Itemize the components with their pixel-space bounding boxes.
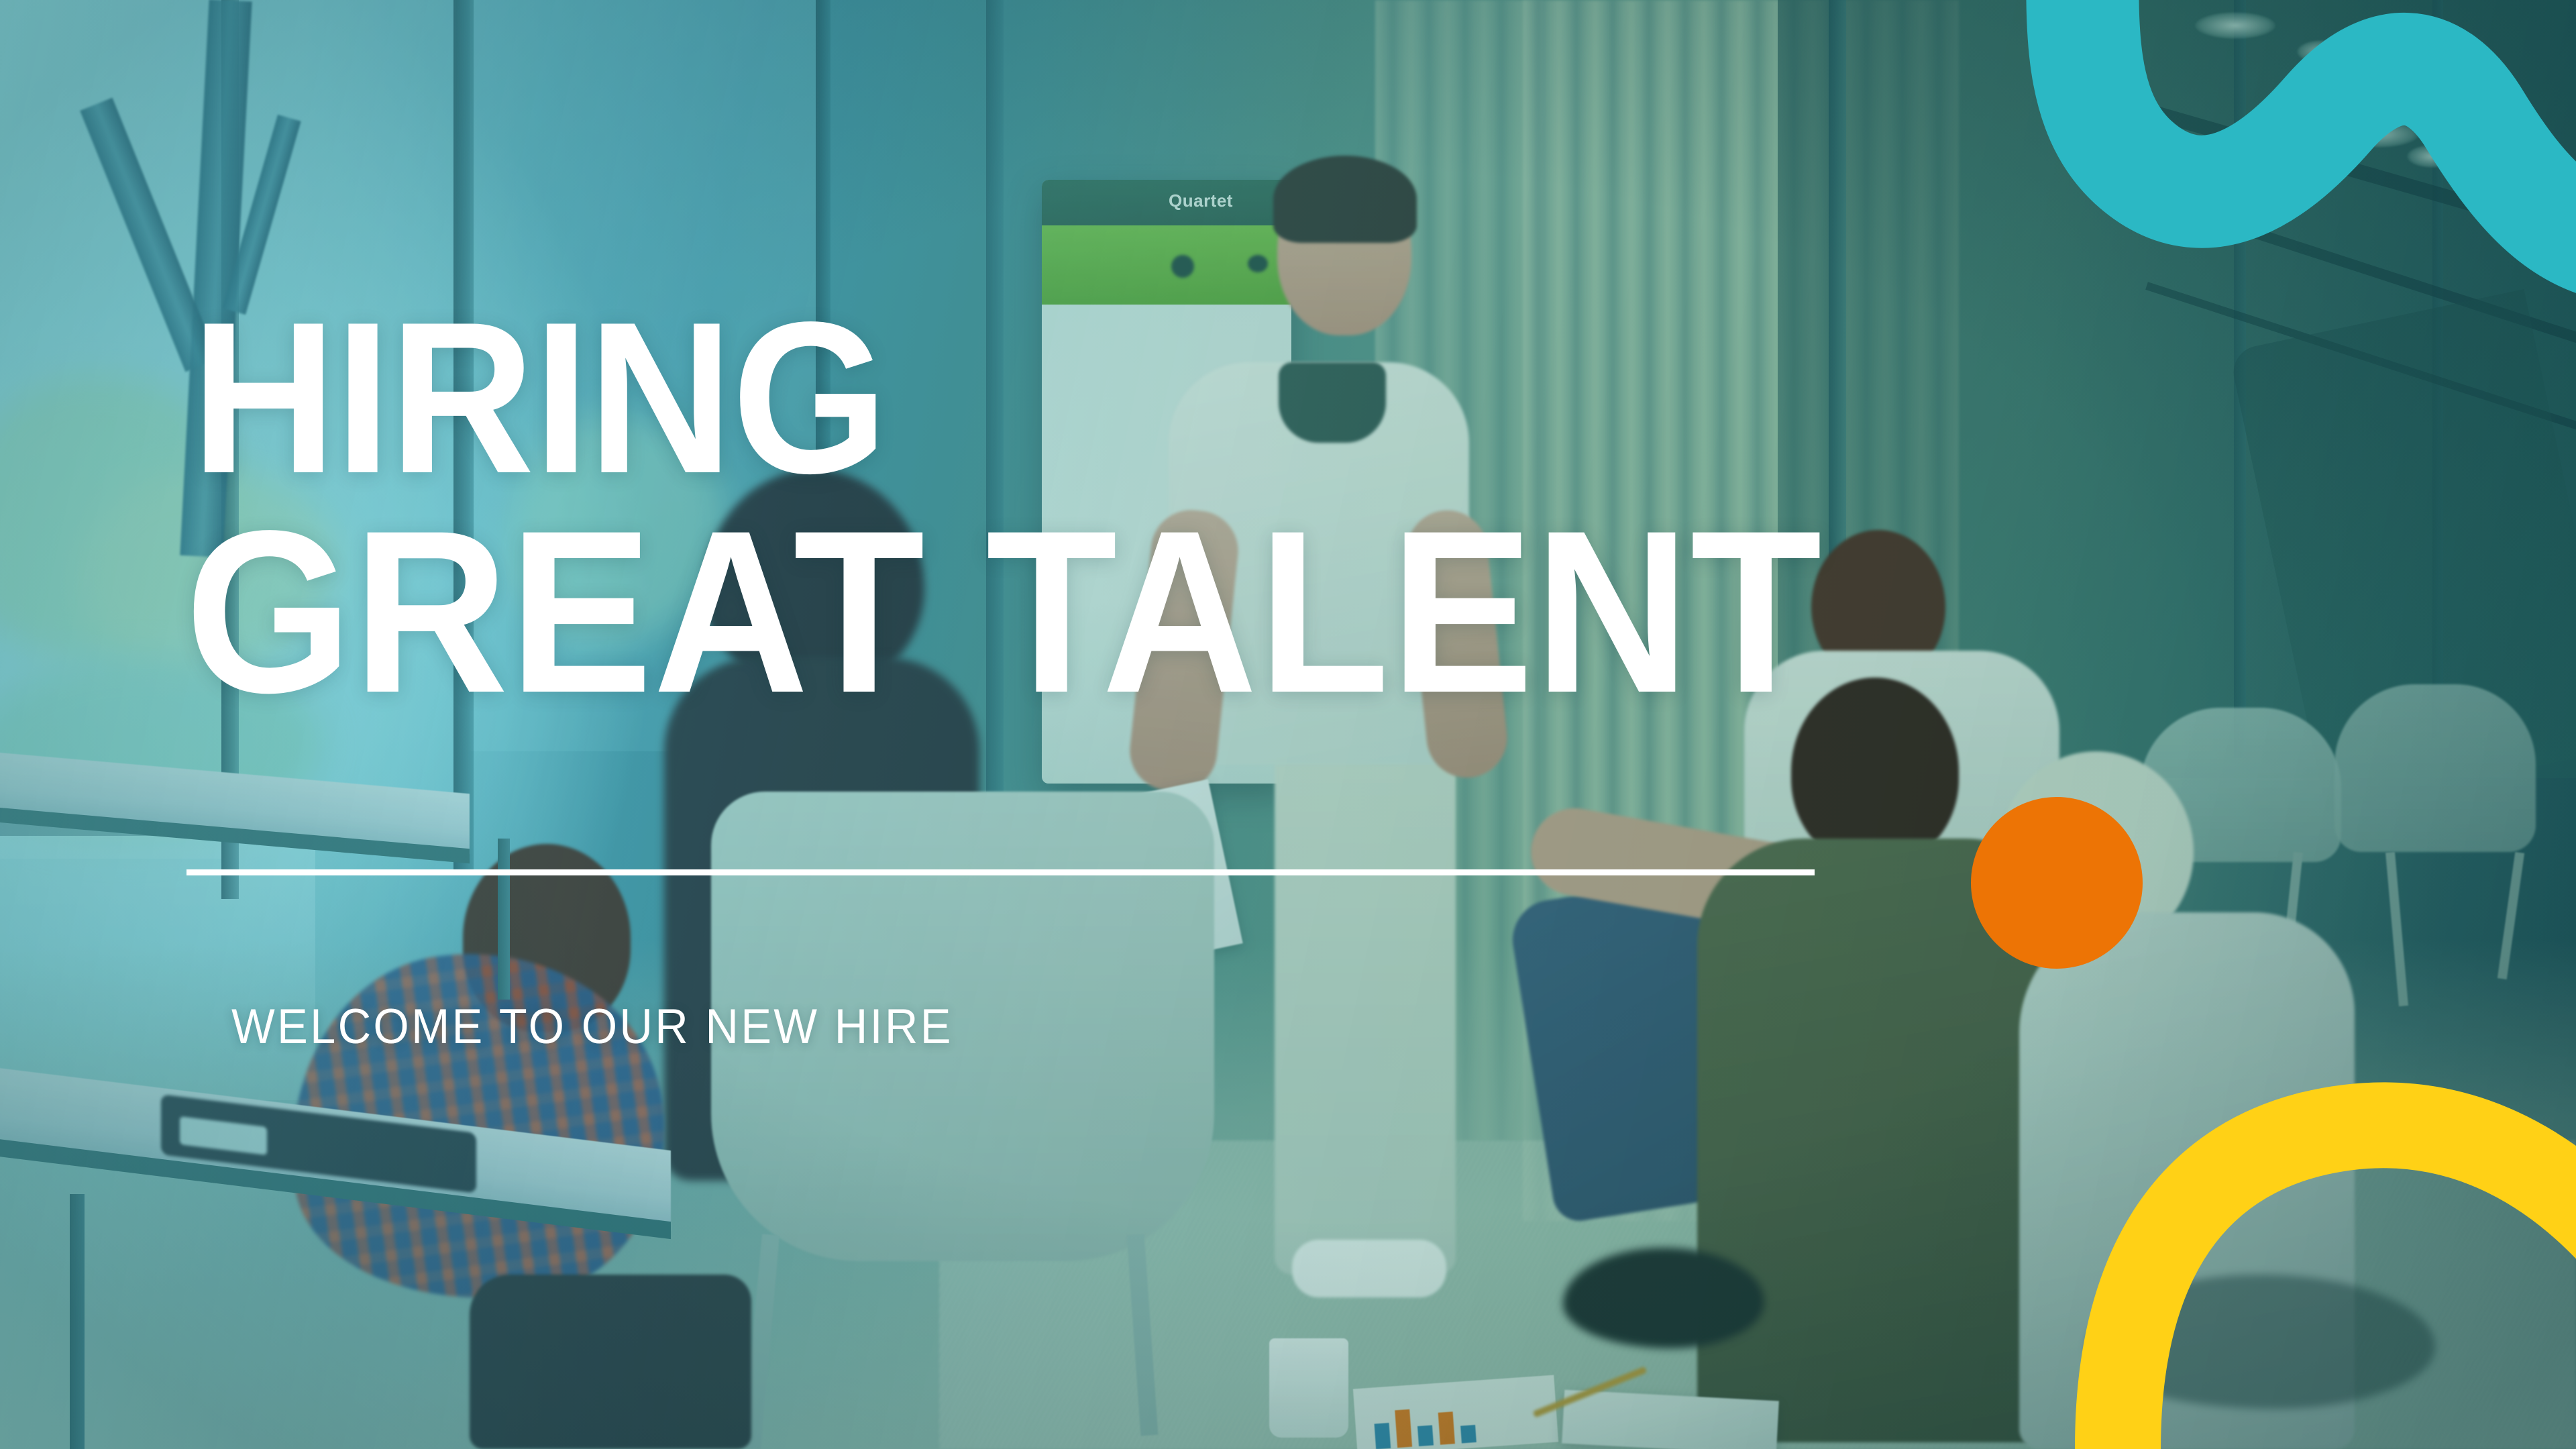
hiring-banner: Quartet xyxy=(0,0,2576,1449)
subtitle: WELCOME TO OUR NEW HIRE xyxy=(231,999,953,1055)
divider-rule xyxy=(186,869,1815,875)
headline-block: HIRINGGREAT TALENT xyxy=(191,295,2204,722)
page-title: HIRINGGREAT TALENT xyxy=(191,295,2063,722)
headline-line-2: GREAT TALENT xyxy=(185,502,2063,722)
